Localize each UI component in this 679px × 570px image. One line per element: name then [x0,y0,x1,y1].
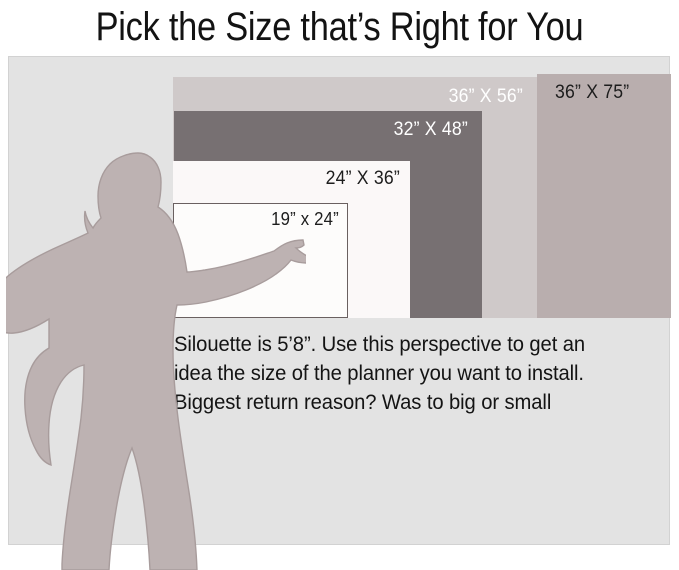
caption-line-2: idea the size of the planner you want to… [174,359,635,388]
size-label-19x24: 19” x 24” [271,209,339,230]
size-label-32x48: 32” X 48” [394,119,468,141]
page-title: Pick the Size that’s Right for You [48,0,632,54]
caption-line-1: Silouette is 5’8”. Use this perspective … [174,330,635,359]
caption-line-3: Biggest return reason? Was to big or sma… [174,388,635,417]
size-guide-image: Pick the Size that’s Right for You 36” X… [0,0,679,570]
size-box-36x75[interactable]: 36” X 75” [537,74,671,318]
caption-text: Silouette is 5’8”. Use this perspective … [174,330,635,417]
size-label-36x75: 36” X 75” [555,82,629,104]
size-label-36x56: 36” X 56” [449,86,523,108]
diagram-panel: 36” X 75” 36” X 56” 32” X 48” 24” X 36” … [8,56,670,545]
size-label-24x36: 24” X 36” [326,168,400,190]
size-box-19x24[interactable]: 19” x 24” [173,203,348,318]
